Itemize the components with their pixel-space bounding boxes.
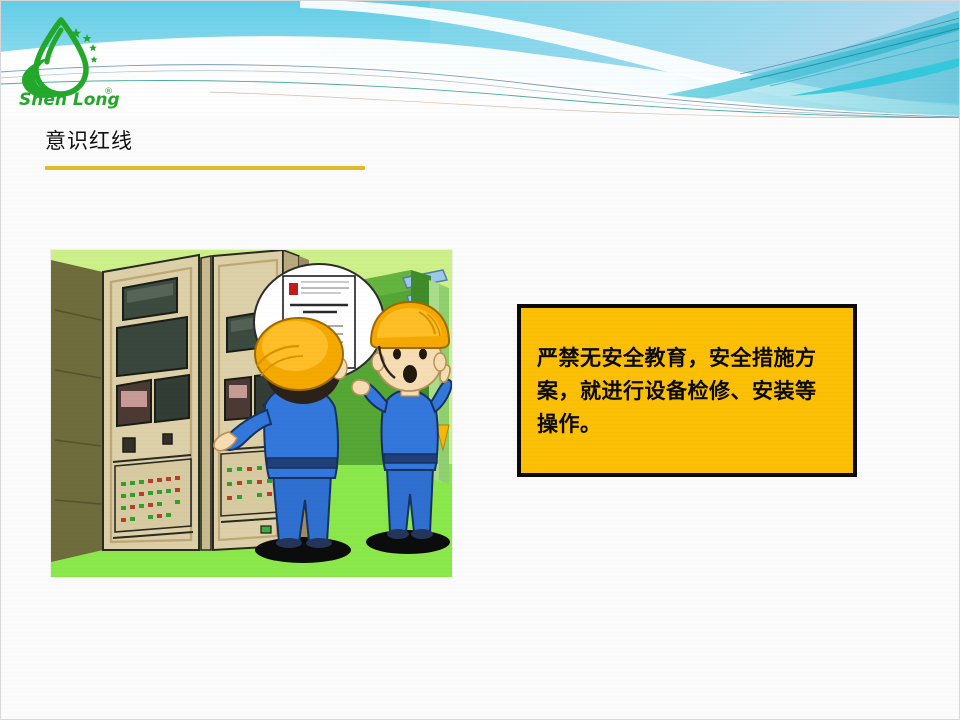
worker1-belt xyxy=(267,458,337,468)
shen-long-logo-graphic: Shen Long ® xyxy=(14,12,122,110)
panel-indicator-pink xyxy=(121,391,147,407)
indicator-led-matrix-1 xyxy=(115,459,191,532)
cabinet-green-button xyxy=(261,526,271,533)
panel-display-low-right xyxy=(155,375,189,422)
worker1-shadow xyxy=(255,537,351,563)
worker2-hand-left xyxy=(352,380,370,395)
worker2-eye-left xyxy=(393,349,401,360)
safety-illustration-graphic xyxy=(51,250,452,577)
worker2-mouth xyxy=(403,365,417,383)
panel-display-mid xyxy=(117,317,187,376)
worker2-eye-right xyxy=(419,349,427,360)
worker2-belt xyxy=(384,454,437,463)
panel-knob-2 xyxy=(163,434,172,444)
cabinet-left-dark-side xyxy=(51,260,103,562)
slide-canvas: Shen Long ® 意识红线 xyxy=(0,0,960,720)
permit-stamp xyxy=(289,283,298,295)
panel-knob-1 xyxy=(123,438,135,452)
wave-banner-graphic xyxy=(0,0,960,118)
page-title: 意识红线 xyxy=(45,126,385,156)
safety-warning-callout: 严禁无安全教育，安全措施方案，就进行设备检修、安装等操作。 xyxy=(517,304,857,477)
title-underline xyxy=(45,166,365,170)
safety-warning-text: 严禁无安全教育，安全措施方案，就进行设备检修、安装等操作。 xyxy=(537,341,837,440)
control-cabinet-1 xyxy=(103,255,199,550)
logo-registered-mark: ® xyxy=(104,87,113,97)
brand-logo: Shen Long ® xyxy=(14,12,122,110)
header-banner xyxy=(0,0,960,118)
safety-illustration xyxy=(51,250,452,577)
page-title-block: 意识红线 xyxy=(45,126,385,170)
